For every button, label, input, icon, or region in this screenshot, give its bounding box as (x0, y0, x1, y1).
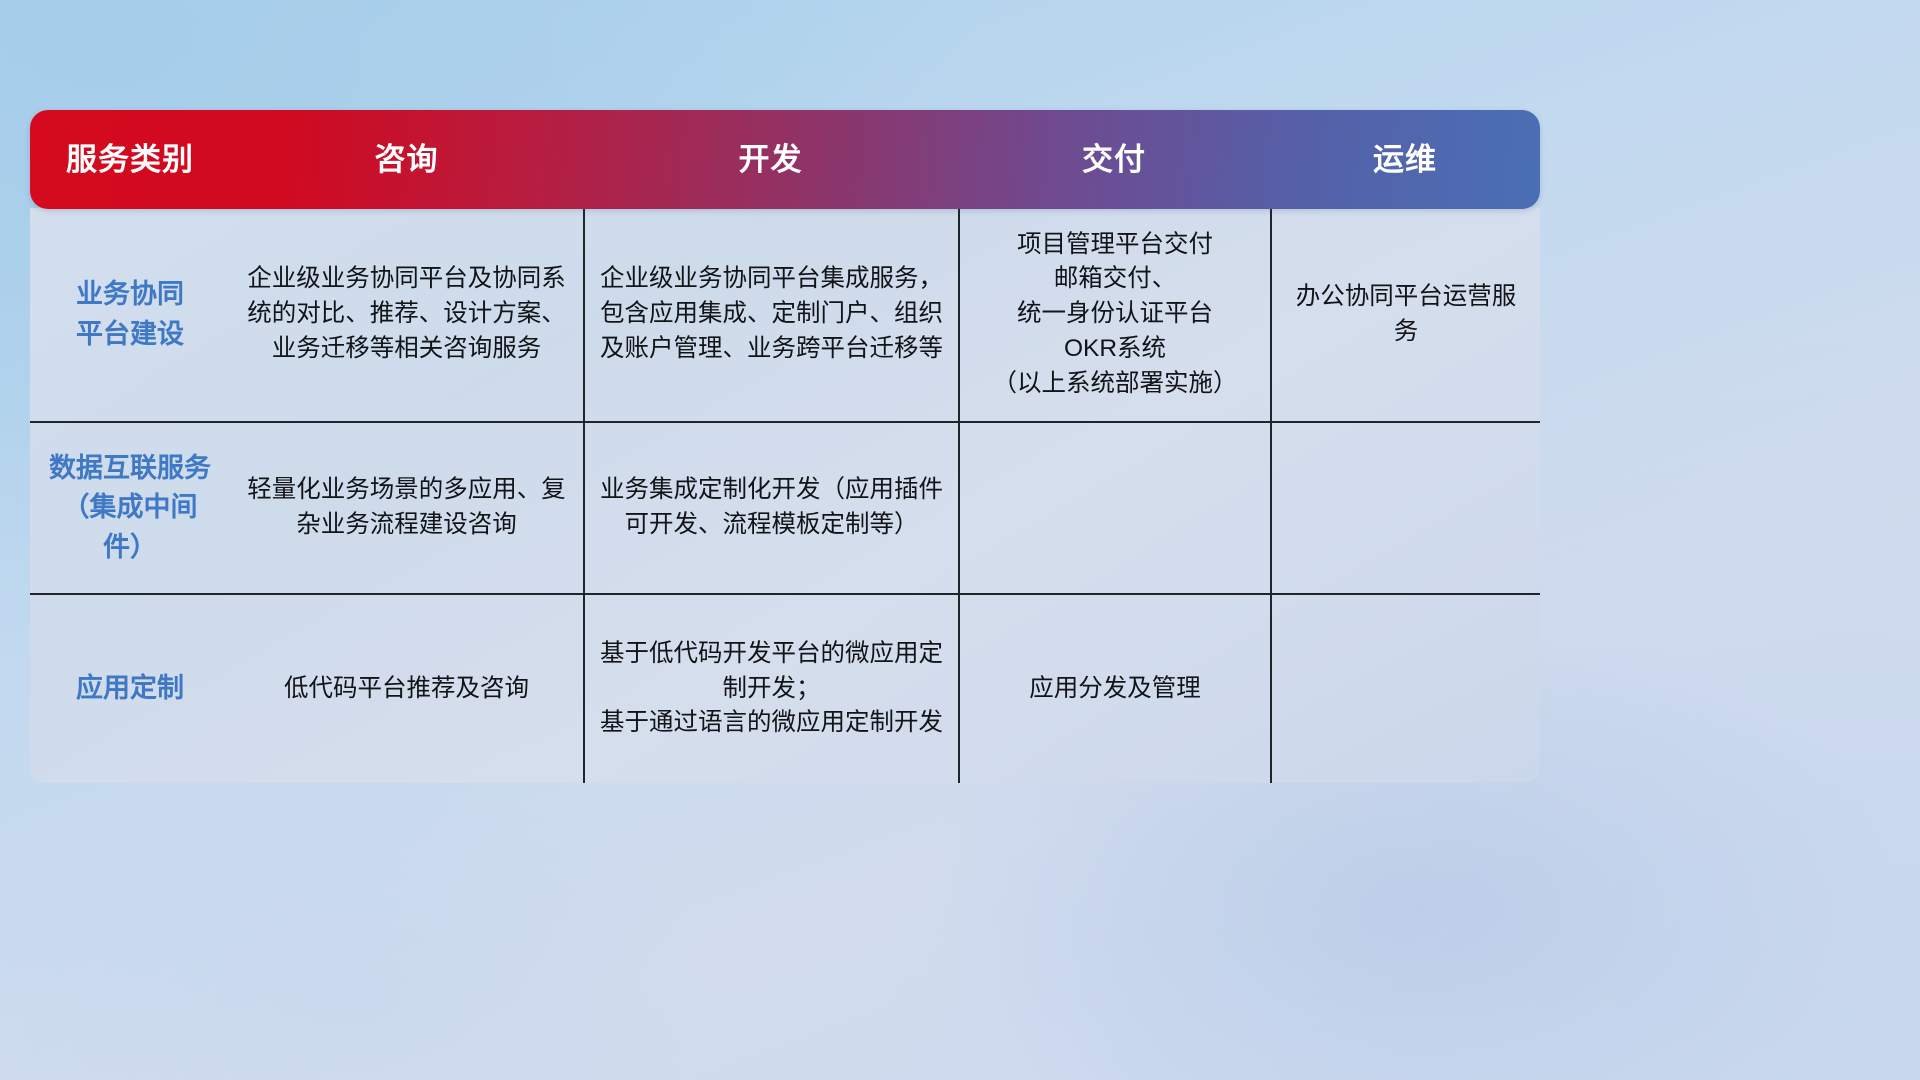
header-cell-development: 开发 (583, 144, 958, 175)
cell-delivery: 项目管理平台交付 邮箱交付、 统一身份认证平台 OKR系统 （以上系统部署实施） (958, 208, 1270, 421)
slide-page: 服务类别 咨询 开发 交付 运维 业务协同 平台建设 企业级业务协同平台及协同系… (0, 0, 1920, 1080)
table-body: 业务协同 平台建设 企业级业务协同平台及协同系 统的对比、推荐、设计方案、 业务… (30, 208, 1540, 783)
cell-delivery: 应用分发及管理 (958, 595, 1270, 783)
cell-consulting: 低代码平台推荐及咨询 (230, 595, 583, 783)
table-header-row: 服务类别 咨询 开发 交付 运维 (30, 110, 1540, 209)
header-cell-service-category: 服务类别 (30, 144, 230, 175)
cell-consulting: 企业级业务协同平台及协同系 统的对比、推荐、设计方案、 业务迁移等相关咨询服务 (230, 208, 583, 421)
cell-consulting: 轻量化业务场景的多应用、复 杂业务流程建设咨询 (230, 423, 583, 593)
cell-operations (1270, 595, 1540, 783)
cell-development: 企业级业务协同平台集成服务， 包含应用集成、定制门户、组织 及账户管理、业务跨平… (583, 208, 958, 421)
header-cell-delivery: 交付 (958, 144, 1270, 175)
cell-delivery (958, 423, 1270, 593)
cell-operations (1270, 423, 1540, 593)
table-row: 数据互联服务 （集成中间件） 轻量化业务场景的多应用、复 杂业务流程建设咨询 业… (30, 421, 1540, 593)
header-cell-operations: 运维 (1270, 144, 1540, 175)
cell-development: 基于低代码开发平台的微应用定 制开发； 基于通过语言的微应用定制开发 (583, 595, 958, 783)
table-row: 业务协同 平台建设 企业级业务协同平台及协同系 统的对比、推荐、设计方案、 业务… (30, 208, 1540, 421)
cell-operations: 办公协同平台运营服务 (1270, 208, 1540, 421)
header-cell-consulting: 咨询 (230, 144, 583, 175)
row-category-label: 业务协同 平台建设 (30, 208, 230, 421)
table-row: 应用定制 低代码平台推荐及咨询 基于低代码开发平台的微应用定 制开发； 基于通过… (30, 593, 1540, 783)
cell-development: 业务集成定制化开发（应用插件 可开发、流程模板定制等） (583, 423, 958, 593)
row-category-label: 应用定制 (30, 595, 230, 783)
row-category-label: 数据互联服务 （集成中间件） (30, 423, 230, 593)
service-category-table: 服务类别 咨询 开发 交付 运维 业务协同 平台建设 企业级业务协同平台及协同系… (30, 110, 1540, 783)
